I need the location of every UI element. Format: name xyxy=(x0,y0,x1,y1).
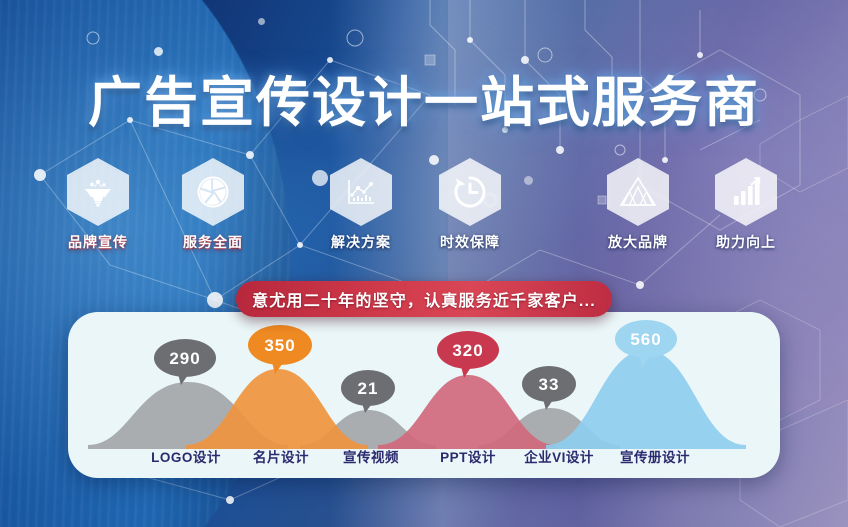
feature-label: 时效保障 xyxy=(422,232,518,252)
svg-text:21: 21 xyxy=(358,379,379,398)
hill-5 xyxy=(546,350,746,449)
feature-item-growth[interactable]: 助力向上 xyxy=(698,158,794,252)
svg-text:290: 290 xyxy=(169,349,200,368)
bubble-0: 290 xyxy=(154,339,216,385)
svg-text:33: 33 xyxy=(539,375,560,394)
svg-text:350: 350 xyxy=(264,336,295,355)
feature-label: 品牌宣传 xyxy=(50,232,146,252)
feature-item-service[interactable]: 服务全面 xyxy=(165,158,261,252)
promo-banner: 广告宣传设计一站式服务商 品牌宣传 xyxy=(0,0,848,527)
decor-dot xyxy=(154,47,163,56)
bubble-3: 320 xyxy=(437,331,499,378)
feature-item-brand[interactable]: 品牌宣传 xyxy=(50,158,146,252)
bar-growth-icon xyxy=(715,158,777,226)
triangle-stack-icon xyxy=(607,158,669,226)
slogan-ribbon: 意尤用二十年的坚守，认真服务近千家客户... xyxy=(236,281,612,317)
chart-category-label: 宣传册设计 xyxy=(588,446,722,466)
svg-text:560: 560 xyxy=(630,330,661,349)
bubble-4: 33 xyxy=(522,366,576,410)
decor-dot xyxy=(258,18,265,25)
megaphone-icon xyxy=(67,158,129,226)
feature-label: 助力向上 xyxy=(698,232,794,252)
bubble-2: 21 xyxy=(341,370,395,413)
feature-item-timeliness[interactable]: 时效保障 xyxy=(422,158,518,252)
feature-item-solution[interactable]: 解决方案 xyxy=(313,158,409,252)
aperture-icon xyxy=(182,158,244,226)
feature-item-amplify[interactable]: 放大品牌 xyxy=(590,158,686,252)
bubble-1: 350 xyxy=(248,325,312,374)
slogan-text: 意尤用二十年的坚守，认真服务近千家客户... xyxy=(252,287,596,311)
statistics-card: 290 350 21 320 xyxy=(68,312,780,478)
feature-label: 放大品牌 xyxy=(590,232,686,252)
clock-rewind-icon xyxy=(439,158,501,226)
chart-node-icon xyxy=(330,158,392,226)
feature-label: 服务全面 xyxy=(165,232,261,252)
feature-label: 解决方案 xyxy=(313,232,409,252)
chart-category-labels: LOGO设计 名片设计 宣传视频 PPT设计 企业VI设计 宣传册设计 xyxy=(68,446,780,466)
svg-text:320: 320 xyxy=(452,341,483,360)
feature-list: 品牌宣传 服务全面 xyxy=(0,158,848,253)
chart-category-label: 宣传视频 xyxy=(316,446,426,466)
banner-title: 广告宣传设计一站式服务商 xyxy=(0,58,848,137)
